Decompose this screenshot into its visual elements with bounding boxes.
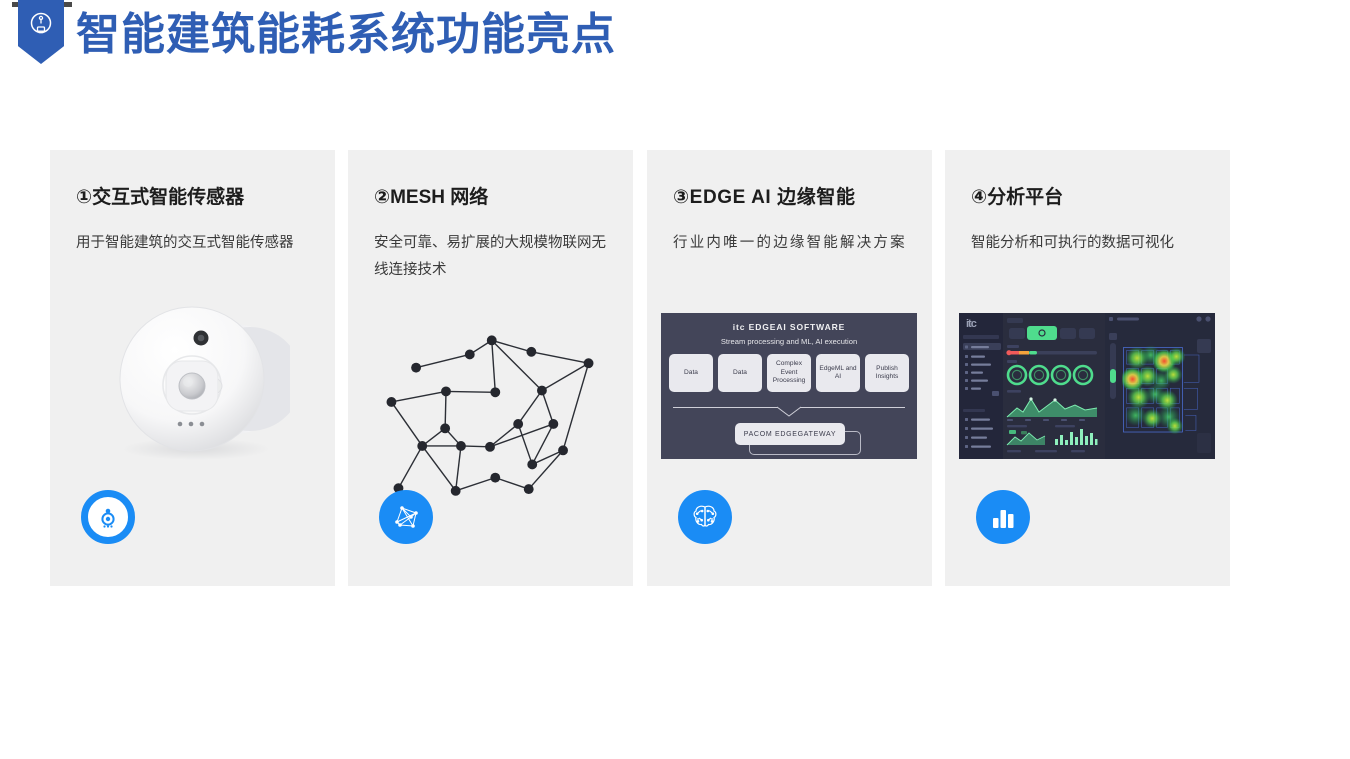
feature-card-edge-ai[interactable]: ③EDGE AI 边缘智能 行业内唯一的边缘智能解决方案 itc EDGEAI …: [647, 150, 932, 586]
card-visual: [50, 305, 335, 465]
card-description: 行业内唯一的边缘智能解决方案: [673, 230, 918, 257]
card-visual: [348, 305, 633, 465]
feature-cards-row: ①交互式智能传感器 用于智能建筑的交互式智能传感器: [0, 150, 1350, 586]
card-description: 用于智能建筑的交互式智能传感器: [76, 230, 321, 257]
edge-box: Complex Event Processing: [767, 354, 811, 392]
edge-diagram-title: itc EDGEAI SOFTWARE: [661, 322, 917, 332]
card-title: ②MESH 网络: [374, 182, 488, 209]
chevron-down-icon: [776, 405, 802, 417]
sensor-icon[interactable]: [81, 490, 135, 544]
feature-card-sensor[interactable]: ①交互式智能传感器 用于智能建筑的交互式智能传感器: [50, 150, 335, 586]
heatmap-floorplan: [1122, 329, 1202, 449]
card-title: ④分析平台: [971, 182, 1063, 209]
edge-box: Data: [718, 354, 762, 392]
edge-box: Data: [669, 354, 713, 392]
ai-brain-icon[interactable]: [678, 490, 732, 544]
smart-sensor-photo: [100, 303, 290, 463]
mesh-network-icon[interactable]: [379, 490, 433, 544]
edge-gateway-box: PACOM EDGEGATEWAY: [735, 423, 845, 445]
page-title: 智能建筑能耗系统功能亮点: [76, 7, 616, 63]
edge-box: EdgeML and AI: [816, 354, 860, 392]
card-title: ①交互式智能传感器: [76, 182, 244, 209]
feature-card-mesh[interactable]: ②MESH 网络 安全可靠、易扩展的大规模物联网无线连接技术: [348, 150, 633, 586]
edge-diagram-boxes: Data Data Complex Event Processing EdgeM…: [669, 354, 909, 392]
bar-chart-icon[interactable]: [976, 490, 1030, 544]
feature-card-analytics[interactable]: ④分析平台 智能分析和可执行的数据可视化 itc: [945, 150, 1230, 586]
card-visual: itc: [945, 305, 1230, 465]
page-header: 智能建筑能耗系统功能亮点: [0, 0, 1350, 100]
card-description: 智能分析和可执行的数据可视化: [971, 230, 1216, 257]
lightbulb-icon: [18, 0, 64, 52]
card-title: ③EDGE AI 边缘智能: [673, 182, 856, 209]
edge-ai-diagram: itc EDGEAI SOFTWARE Stream processing an…: [661, 313, 917, 459]
mesh-network-graph: [380, 300, 600, 475]
card-description: 安全可靠、易扩展的大规模物联网无线连接技术: [374, 230, 619, 284]
card-visual: itc EDGEAI SOFTWARE Stream processing an…: [647, 305, 932, 465]
analytics-dashboard-screenshot: itc: [959, 313, 1215, 459]
edge-diagram-subtitle: Stream processing and ML, AI execution: [661, 337, 917, 346]
edge-box: Publish Insights: [865, 354, 909, 392]
